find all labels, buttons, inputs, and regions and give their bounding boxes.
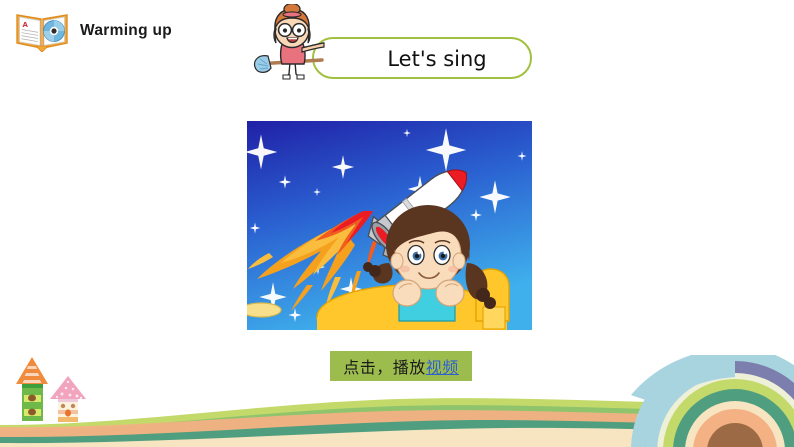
play-video-link[interactable]: 视频 <box>426 354 459 378</box>
book-cd-icon: A <box>14 10 70 52</box>
cartoon-houses <box>16 357 86 422</box>
lets-sing-banner[interactable]: Let's sing <box>252 4 537 92</box>
header-row: A Warming up <box>14 10 172 52</box>
svg-text:A: A <box>23 21 29 29</box>
page-title: Warming up <box>80 22 172 40</box>
wavy-color-bands <box>0 398 794 447</box>
banner-label: Let's sing <box>357 42 517 76</box>
concentric-arcs <box>631 355 794 447</box>
play-video-box[interactable]: 点击，播放 视频 <box>330 351 472 381</box>
play-video-prefix: 点击，播放 <box>343 354 426 378</box>
rocket-and-girl-illustration[interactable] <box>247 121 532 330</box>
